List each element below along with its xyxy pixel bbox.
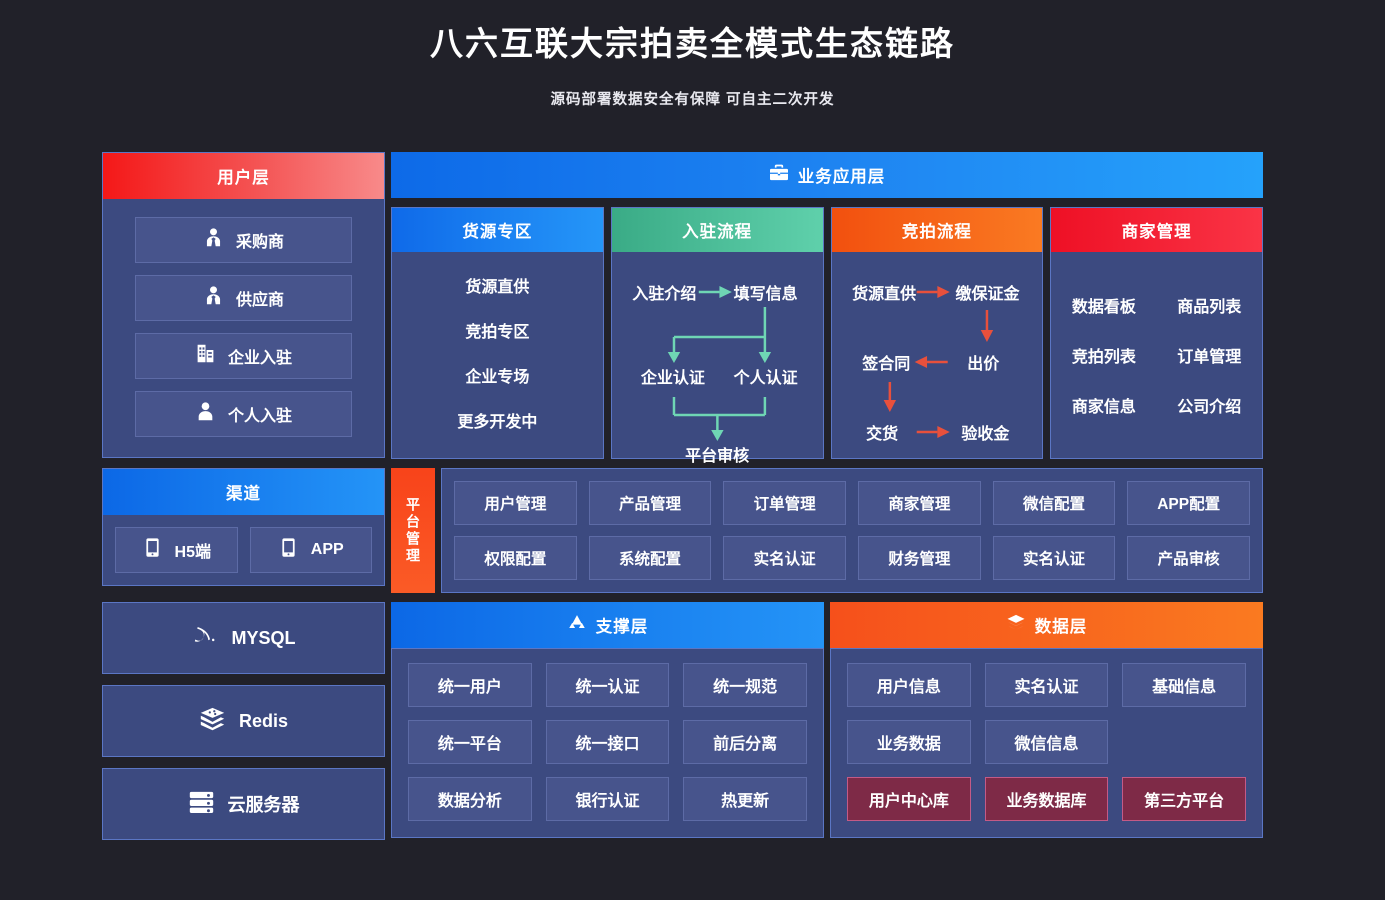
biz-column-merchant: 商家管理 数据看板 商品列表 竞拍列表 订单管理 商家信息 公司介绍 [1050,207,1263,459]
chip-permission-config[interactable]: 权限配置 [454,536,577,580]
support-and-data-layers: 支撑层 统一用户 统一认证 统一规范 统一平台 统一接口 前后分离 数据分析 [391,602,1263,838]
support-layer-panel: 支撑层 统一用户 统一认证 统一规范 统一平台 统一接口 前后分离 数据分析 [391,602,824,838]
channel-panel: 渠道 H5端 [102,468,385,593]
cell-unified-api[interactable]: 统一接口 [546,720,670,764]
cell-basic-info[interactable]: 基础信息 [1122,663,1246,707]
flow-node[interactable]: 缴保证金 [955,280,1019,304]
support-layer-grid: 统一用户 统一认证 统一规范 统一平台 统一接口 前后分离 数据分析 银行认证 … [408,663,807,821]
chip-order-management[interactable]: 订单管理 [723,481,846,525]
platform-management-grid: 用户管理 产品管理 订单管理 商家管理 微信配置 APP配置 权限配置 系统配置… [454,481,1250,580]
row-middle: 渠道 H5端 [102,468,1263,593]
cell-user-center-db[interactable]: 用户中心库 [847,777,971,821]
grid-item[interactable]: 商品列表 [1157,293,1262,317]
platform-management-grid-container: 用户管理 产品管理 订单管理 商家管理 微信配置 APP配置 权限配置 系统配置… [441,468,1263,593]
cell-business-data[interactable]: 业务数据 [847,720,971,764]
channel-card-h5[interactable]: H5端 [115,527,238,573]
biz-column-auction: 竞拍流程 [831,207,1044,459]
flow-node[interactable]: 出价 [967,350,999,374]
data-layer-header: 数据层 [830,602,1263,648]
page-header: 八六互联大宗拍卖全模式生态链路 源码部署数据安全有保障 可自主二次开发 [0,0,1385,109]
list-item[interactable]: 货源直供 [392,265,603,310]
data-layer-grid: 用户信息 实名认证 基础信息 业务数据 微信信息 用户中心库 业务数据库 第三方… [847,663,1246,821]
cell-business-db[interactable]: 业务数据库 [985,777,1109,821]
cell-wechat-info[interactable]: 微信信息 [985,720,1109,764]
channel-card-label: APP [311,541,344,559]
cell-empty-placeholder [1122,720,1246,764]
infra-card-cloud-server[interactable]: 云服务器 [102,768,385,840]
grid-item[interactable]: 商家信息 [1051,393,1156,417]
redis-stack-icon [199,705,226,737]
user-layer-panel: 用户层 采购商 供应商 [102,152,385,459]
platform-management-label: 平台管理 [391,468,435,593]
merchant-grid: 数据看板 商品列表 竞拍列表 订单管理 商家信息 公司介绍 [1051,252,1262,458]
toolbox-icon [769,163,789,188]
auction-flow: 货源直供 缴保证金 签合同 出价 交货 验收金 [832,252,1043,458]
flow-node[interactable]: 签合同 [862,350,910,374]
cell-unified-platform[interactable]: 统一平台 [408,720,532,764]
grid-item[interactable]: 公司介绍 [1157,393,1262,417]
building-icon [195,343,216,369]
grid-item[interactable]: 订单管理 [1157,343,1262,367]
channel-body: H5端 APP [103,515,384,585]
user-card-buyer[interactable]: 采购商 [135,217,352,263]
list-item[interactable]: 企业专场 [392,355,603,400]
flow-node[interactable]: 个人认证 [734,364,798,388]
data-layer-panel: 数据层 用户信息 实名认证 基础信息 业务数据 微信信息 用户中心库 [830,602,1263,838]
biz-column-title: 货源专区 [392,208,603,252]
chip-system-config[interactable]: 系统配置 [589,536,712,580]
user-icon [195,401,216,427]
biz-column-body: 货源直供 竞拍专区 企业专场 更多开发中 [392,252,603,458]
biz-column-body: 数据看板 商品列表 竞拍列表 订单管理 商家信息 公司介绍 [1051,252,1262,458]
chip-merchant-management[interactable]: 商家管理 [858,481,981,525]
infra-panel: MYSQL Redis 云服务器 [102,602,385,840]
mountains-icon [567,613,587,638]
user-layer-container: 用户层 采购商 供应商 [102,152,385,458]
bottom-layers: 支撑层 统一用户 统一认证 统一规范 统一平台 统一接口 前后分离 数据分析 [391,602,1263,840]
page-subtitle: 源码部署数据安全有保障 可自主二次开发 [0,88,1385,109]
flow-node[interactable]: 入驻介绍 [632,280,696,304]
mobile-icon [142,537,163,563]
business-layer-title: 业务应用层 [798,163,886,187]
flow-node[interactable]: 交货 [866,420,898,444]
user-card-label: 供应商 [236,286,284,310]
user-layer-header: 用户层 [103,153,384,199]
biz-column-onboarding: 入驻流程 [611,207,824,459]
chip-realname-auth[interactable]: 实名认证 [723,536,846,580]
cell-data-analysis[interactable]: 数据分析 [408,777,532,821]
cell-frontend-backend-split[interactable]: 前后分离 [683,720,807,764]
biz-column-title: 入驻流程 [612,208,823,252]
chip-app-config[interactable]: APP配置 [1127,481,1250,525]
flow-node[interactable]: 企业认证 [641,364,705,388]
biz-column-body: 货源直供 缴保证金 签合同 出价 交货 验收金 [832,252,1043,458]
biz-column-title: 商家管理 [1051,208,1262,252]
support-layer-body: 统一用户 统一认证 统一规范 统一平台 统一接口 前后分离 数据分析 银行认证 … [391,648,824,838]
layers-icon [1006,613,1026,638]
flow-node[interactable]: 验收金 [961,420,1009,444]
server-rack-icon [188,788,215,820]
supply-item-list: 货源直供 竞拍专区 企业专场 更多开发中 [392,252,603,458]
flow-node[interactable]: 货源直供 [852,280,916,304]
architecture-diagram-page: 八六互联大宗拍卖全模式生态链路 源码部署数据安全有保障 可自主二次开发 用户层 [0,0,1385,900]
cell-bank-auth[interactable]: 银行认证 [546,777,670,821]
channel-card-app[interactable]: APP [250,527,373,573]
cell-hot-update[interactable]: 热更新 [683,777,807,821]
platform-management-panel: 平台管理 用户管理 产品管理 订单管理 商家管理 微信配置 APP配置 权限配置… [391,468,1263,593]
flow-node[interactable]: 填写信息 [734,280,798,304]
row-bottom: MYSQL Redis 云服务器 [102,602,1263,840]
flow-node[interactable]: 平台审核 [685,442,749,466]
list-item[interactable]: 更多开发中 [392,400,603,445]
data-layer-title: 数据层 [1035,613,1088,637]
grid-item[interactable]: 竞拍列表 [1051,343,1156,367]
mysql-dolphin-icon [191,622,218,654]
biz-column-body: 入驻介绍 填写信息 企业认证 个人认证 平台审核 [612,252,823,458]
channel-card-label: H5端 [175,538,211,562]
channel-header: 渠道 [103,469,384,515]
user-layer-title: 用户层 [217,164,270,188]
chip-wechat-config[interactable]: 微信配置 [993,481,1116,525]
grid-item[interactable]: 数据看板 [1051,293,1156,317]
diagram-board: 用户层 采购商 供应商 [102,152,1263,840]
infra-card-redis[interactable]: Redis [102,685,385,757]
support-layer-title: 支撑层 [596,613,649,637]
cell-third-party-platform[interactable]: 第三方平台 [1122,777,1246,821]
row-top: 用户层 采购商 供应商 [102,152,1263,459]
user-card-label: 个人入驻 [228,402,292,426]
user-tie-icon [203,285,224,311]
channel-container: 渠道 H5端 [102,468,385,586]
business-layer-header: 业务应用层 [391,152,1263,198]
user-layer-body: 采购商 供应商 企业入驻 [103,199,384,457]
biz-column-title: 竞拍流程 [832,208,1043,252]
business-layer-columns: 货源专区 货源直供 竞拍专区 企业专场 更多开发中 入驻流程 [391,207,1263,459]
cell-unified-user[interactable]: 统一用户 [408,663,532,707]
user-card-supplier[interactable]: 供应商 [135,275,352,321]
user-card-label: 采购商 [236,228,284,252]
list-item[interactable]: 竞拍专区 [392,310,603,355]
support-layer-header: 支撑层 [391,602,824,648]
onboarding-flow: 入驻介绍 填写信息 企业认证 个人认证 平台审核 [612,252,823,458]
infra-card-mysql[interactable]: MYSQL [102,602,385,674]
data-layer-body: 用户信息 实名认证 基础信息 业务数据 微信信息 用户中心库 业务数据库 第三方… [830,648,1263,838]
user-card-individual[interactable]: 个人入驻 [135,391,352,437]
chip-user-management[interactable]: 用户管理 [454,481,577,525]
chip-realname-auth-2[interactable]: 实名认证 [993,536,1116,580]
infra-card-label: MYSQL [231,628,295,649]
business-layer-panel: 业务应用层 货源专区 货源直供 竞拍专区 企业专场 更多开发中 [391,152,1263,459]
mobile-icon [278,537,299,563]
infra-card-label: 云服务器 [228,791,300,817]
biz-column-supply: 货源专区 货源直供 竞拍专区 企业专场 更多开发中 [391,207,604,459]
chip-product-review[interactable]: 产品审核 [1127,536,1250,580]
cell-user-info[interactable]: 用户信息 [847,663,971,707]
user-card-enterprise[interactable]: 企业入驻 [135,333,352,379]
cell-unified-standard[interactable]: 统一规范 [683,663,807,707]
cell-realname-auth[interactable]: 实名认证 [985,663,1109,707]
cell-unified-auth[interactable]: 统一认证 [546,663,670,707]
infra-card-label: Redis [239,711,288,732]
page-title: 八六互联大宗拍卖全模式生态链路 [0,22,1385,66]
user-tie-icon [203,227,224,253]
channel-title: 渠道 [226,480,261,504]
chip-finance-management[interactable]: 财务管理 [858,536,981,580]
user-card-label: 企业入驻 [228,344,292,368]
platform-management-row: 平台管理 用户管理 产品管理 订单管理 商家管理 微信配置 APP配置 权限配置… [391,468,1263,593]
chip-product-management[interactable]: 产品管理 [589,481,712,525]
